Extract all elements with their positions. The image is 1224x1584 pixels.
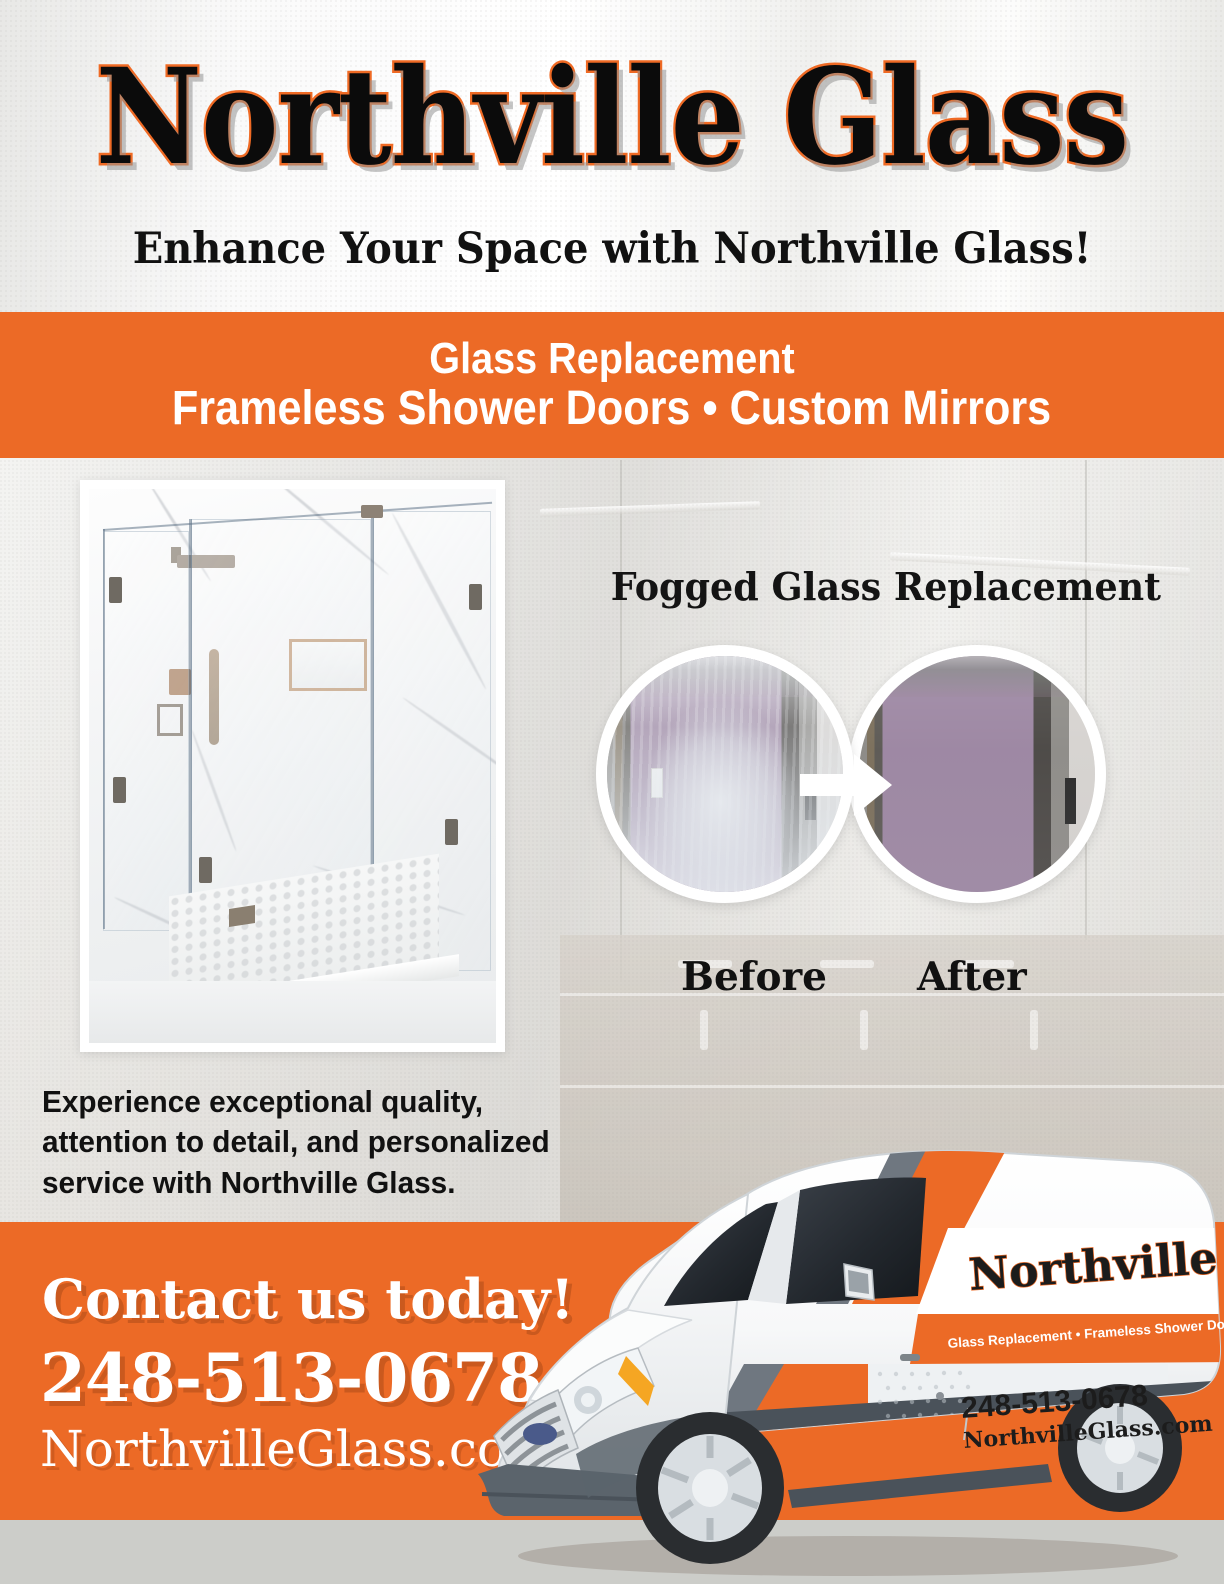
- glass-edge: [103, 529, 105, 929]
- services-line-primary: Glass Replacement: [429, 336, 794, 382]
- glass-hinge: [469, 584, 482, 610]
- after-label: After: [917, 958, 1027, 997]
- glass-hinge: [199, 857, 212, 883]
- company-van-image: Northville Glass Glass Replacement • Fra…: [448, 1118, 1224, 1584]
- van-brand-oval: [523, 1423, 557, 1445]
- van-ground-shadow: [518, 1536, 1178, 1576]
- van-running-board: [788, 1464, 1052, 1508]
- header: Northville Glass Enhance Your Space with…: [0, 0, 1224, 312]
- fogged-section-heading: Fogged Glass Replacement: [611, 568, 1129, 606]
- shower-photo: [89, 489, 496, 1043]
- van-door-handle: [900, 1354, 920, 1361]
- before-label: Before: [681, 958, 827, 997]
- bathroom-floor: [89, 981, 496, 1043]
- glass-clamp: [361, 505, 383, 518]
- services-line-secondary: Frameless Shower Doors • Custom Mirrors: [172, 384, 1051, 434]
- flyer-page: Northville Glass Enhance Your Space with…: [0, 0, 1224, 1584]
- van-side-mirror: [844, 1264, 874, 1300]
- shower-photo-card: [80, 480, 505, 1052]
- clear-glass-overlay: [859, 656, 1095, 892]
- right-arrow-icon: [798, 748, 894, 822]
- glass-hinge: [109, 577, 122, 603]
- value-line-1: Experience exceptional quality,: [42, 1082, 656, 1122]
- van-front-wheel: [636, 1412, 784, 1564]
- services-banner: Glass Replacement Frameless Shower Doors…: [0, 312, 1224, 458]
- page-title: Northville Glass: [73, 52, 1150, 184]
- glass-hinge: [445, 819, 458, 845]
- glass-hinge: [113, 777, 126, 803]
- header-tagline: Enhance Your Space with Northville Glass…: [43, 228, 1181, 271]
- glass-edge: [189, 519, 192, 949]
